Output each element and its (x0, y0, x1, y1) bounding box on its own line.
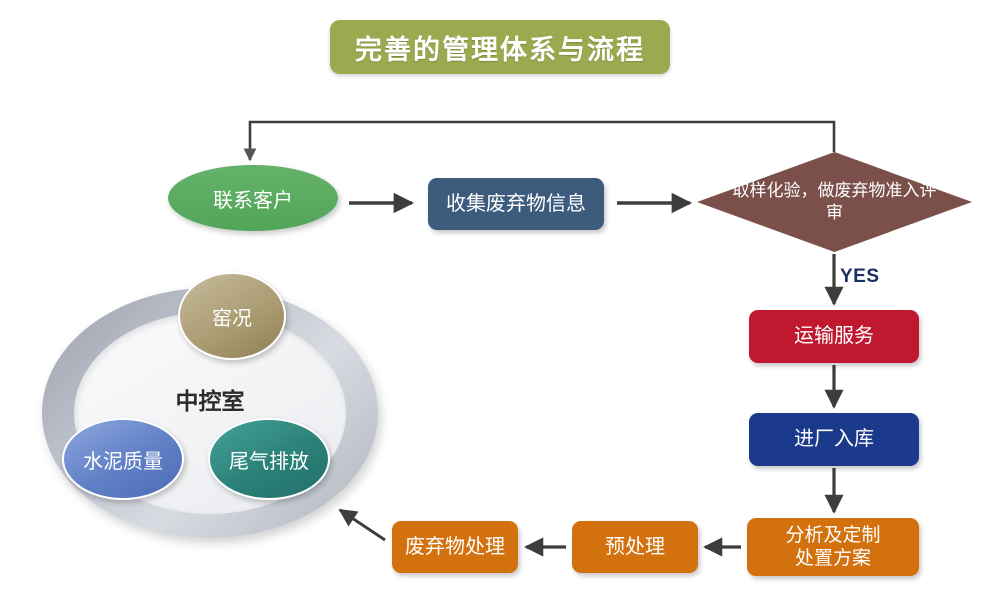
control-bubble-kiln-label: 窑况 (212, 302, 252, 331)
node-analysis-plan-label: 分析及定制 处置方案 (785, 524, 880, 570)
node-transport-service-label: 运输服务 (794, 324, 874, 348)
control-room-cluster: 中控室 窑况 水泥质量 尾气排放 (30, 270, 380, 570)
node-waste-disposal[interactable]: 废弃物处理 (392, 521, 518, 573)
node-collect-waste-info[interactable]: 收集废弃物信息 (428, 178, 604, 230)
node-waste-disposal-label: 废弃物处理 (405, 535, 505, 559)
node-collect-waste-info-label: 收集废弃物信息 (446, 192, 586, 216)
page-title: 完善的管理体系与流程 (330, 20, 670, 74)
page-title-text: 完善的管理体系与流程 (355, 28, 645, 67)
control-bubble-exhaust-emission[interactable]: 尾气排放 (208, 418, 330, 500)
node-analysis-plan[interactable]: 分析及定制 处置方案 (747, 518, 919, 576)
node-analysis-plan-line2: 处置方案 (795, 548, 871, 569)
node-contact-customer[interactable]: 联系客户 (168, 165, 338, 231)
node-transport-service[interactable]: 运输服务 (749, 310, 919, 363)
control-bubble-kiln[interactable]: 窑况 (178, 272, 286, 360)
node-decision-sampling-review[interactable]: 取样化验，做废弃物准入评审 (697, 152, 972, 252)
control-bubble-exhaust-emission-label: 尾气排放 (229, 445, 309, 474)
node-analysis-plan-line1: 分析及定制 (785, 525, 880, 546)
node-enter-warehouse-label: 进厂入库 (794, 427, 874, 451)
control-bubble-cement-quality[interactable]: 水泥质量 (62, 418, 184, 500)
decision-yes-label: YES (840, 266, 880, 288)
node-contact-customer-label: 联系客户 (213, 184, 293, 213)
control-room-center-label: 中控室 (74, 382, 346, 416)
node-enter-warehouse[interactable]: 进厂入库 (749, 413, 919, 466)
node-decision-sampling-review-label: 取样化验，做废弃物准入评审 (697, 152, 972, 252)
diagram-canvas: 完善的管理体系与流程 中控室 窑况 水泥质量 尾气排放 联系客户 收集废弃物信息… (0, 0, 1000, 600)
control-bubble-cement-quality-label: 水泥质量 (83, 445, 163, 474)
node-pretreatment[interactable]: 预处理 (572, 521, 698, 573)
node-pretreatment-label: 预处理 (605, 535, 665, 559)
